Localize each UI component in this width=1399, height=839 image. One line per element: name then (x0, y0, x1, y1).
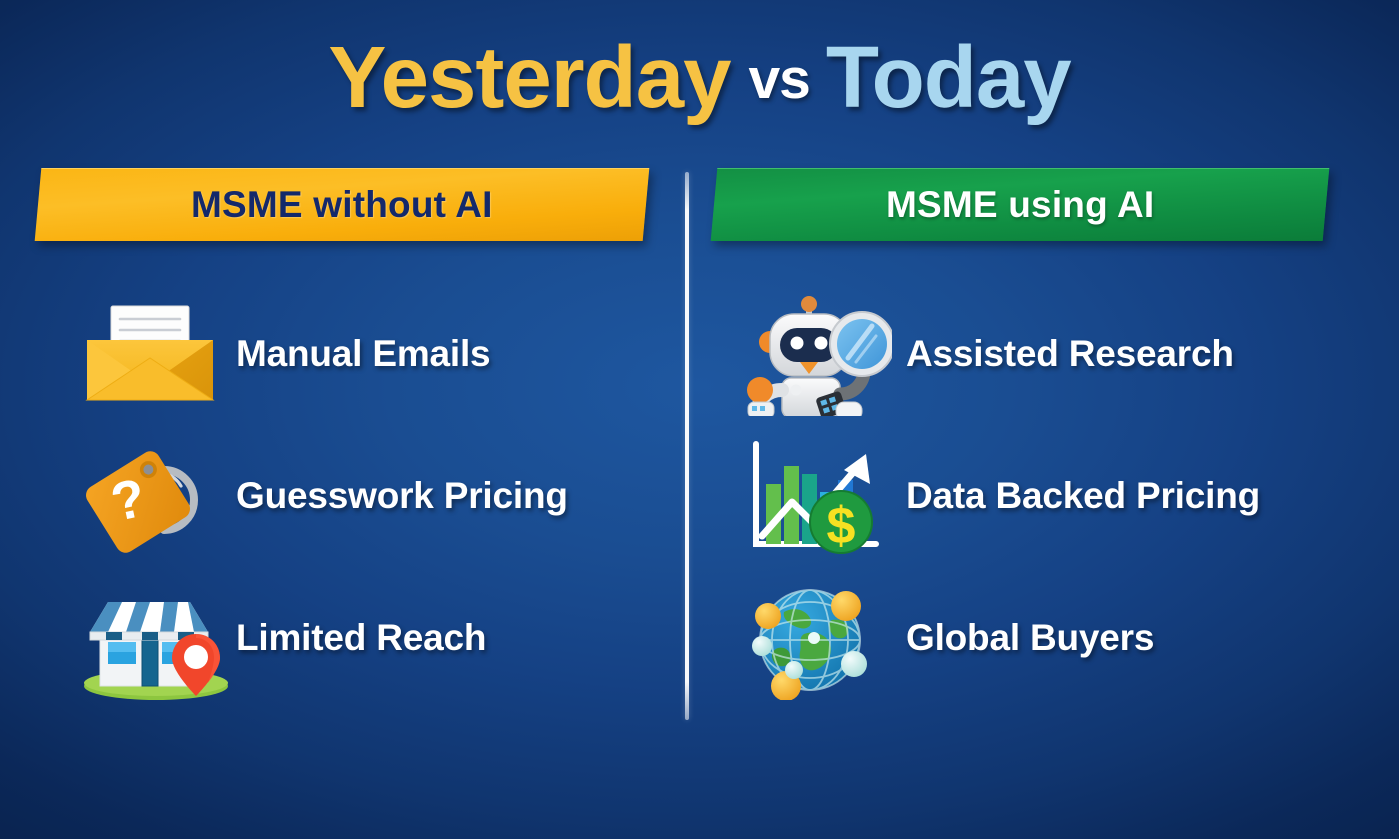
robot-magnifier-icon (740, 292, 892, 416)
feature-row: Manual Emails (30, 283, 670, 425)
feature-list-using-ai: Assisted Research (700, 283, 1340, 709)
feature-row: Assisted Research (700, 283, 1340, 425)
banner-label-using-ai: MSME using AI (886, 184, 1154, 226)
title-word-vs: vs (748, 46, 809, 112)
feature-label: Manual Emails (236, 333, 490, 375)
feature-row: $ Data Backed Pricing (700, 425, 1340, 567)
feature-label: Guesswork Pricing (236, 475, 568, 517)
feature-label: Assisted Research (906, 333, 1234, 375)
slide-canvas: YesterdayvsToday MSME without AI (0, 0, 1399, 839)
banner-msme-using-ai: MSME using AI (711, 168, 1330, 241)
column-using-ai: MSME using AI (700, 168, 1340, 241)
vertical-divider (685, 172, 689, 720)
bar-chart-dollar-icon: $ (740, 434, 892, 558)
feature-label: Data Backed Pricing (906, 475, 1260, 517)
feature-row: ? Guesswork Pricing (30, 425, 670, 567)
column-without-ai: MSME without AI (30, 168, 670, 241)
banner-label-without-ai: MSME without AI (191, 184, 493, 226)
globe-network-icon (740, 576, 892, 700)
svg-text:$: $ (827, 497, 856, 555)
title-word-yesterday: Yesterday (328, 28, 730, 128)
feature-label: Limited Reach (236, 617, 486, 659)
storefront-location-pin-icon (78, 576, 230, 700)
price-tag-question-icon: ? (78, 434, 230, 558)
feature-row: Limited Reach (30, 567, 670, 709)
page-title: YesterdayvsToday (0, 28, 1399, 128)
feature-row: Global Buyers (700, 567, 1340, 709)
banner-msme-without-ai: MSME without AI (35, 168, 650, 241)
envelope-icon (78, 292, 230, 416)
title-word-today: Today (826, 28, 1071, 128)
feature-list-without-ai: Manual Emails (30, 283, 670, 709)
feature-label: Global Buyers (906, 617, 1154, 659)
